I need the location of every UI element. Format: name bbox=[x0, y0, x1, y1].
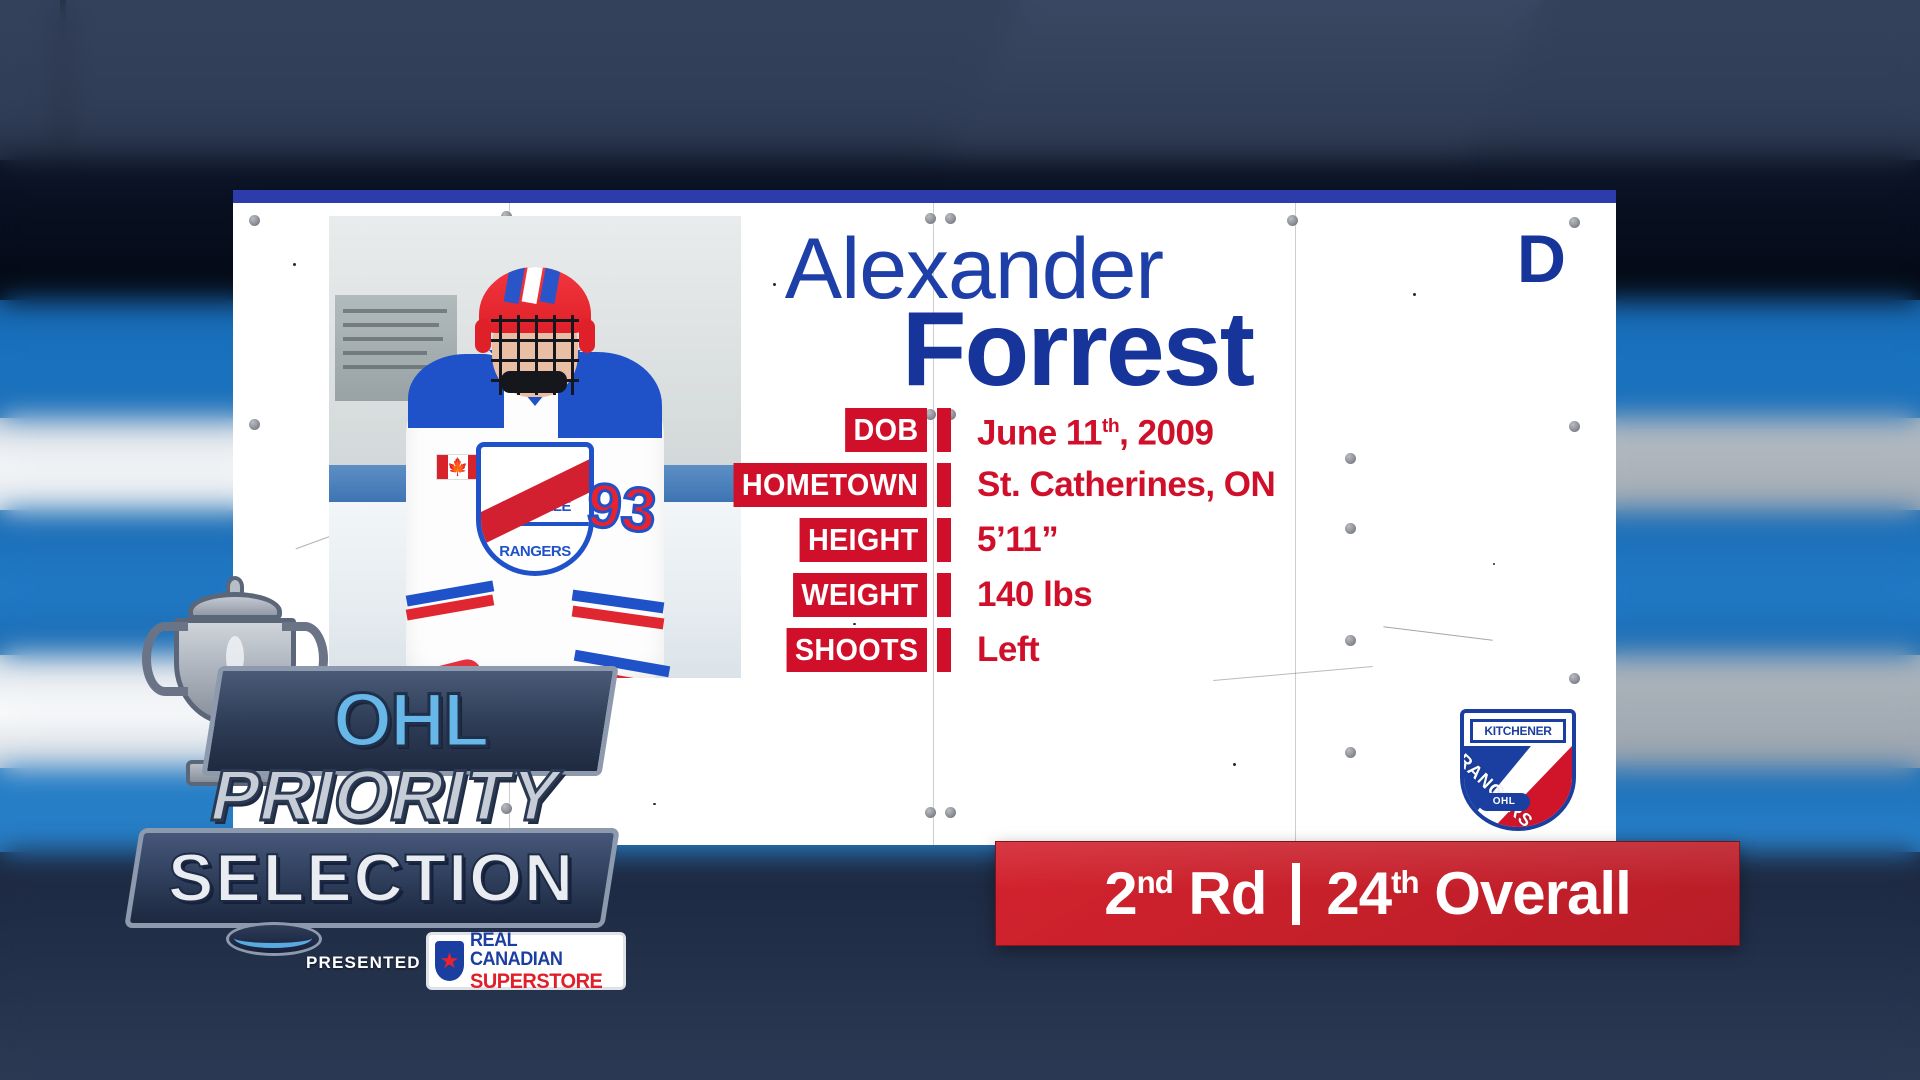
draft-position-banner: 2nd Rd 24th Overall bbox=[995, 841, 1740, 946]
player-stats-list: DOB June 11th, 2009 HOMETOWN St. Catheri… bbox=[703, 408, 1603, 683]
stat-label-shoots: SHOOTS bbox=[787, 628, 927, 672]
stat-value-dob-tail: , 2009 bbox=[1119, 413, 1213, 452]
stat-row-shoots: SHOOTS Left bbox=[703, 628, 1603, 672]
stat-divider-bar bbox=[937, 628, 951, 672]
puck-motion-arc bbox=[234, 928, 312, 948]
grunge-speck bbox=[1413, 293, 1416, 296]
draft-overall-number: 24 bbox=[1326, 860, 1391, 927]
rivet bbox=[249, 419, 260, 430]
team-shield: KITCHENER RANGERS OHL bbox=[1460, 709, 1576, 831]
draft-overall-label: Overall bbox=[1434, 860, 1630, 927]
helmet-ear-left bbox=[475, 319, 491, 353]
team-name-top: KITCHENER bbox=[1470, 719, 1566, 743]
team-crest-oakville-rangers: OAKVILLE RANGERS bbox=[476, 442, 594, 576]
grunge-speck bbox=[1233, 763, 1236, 766]
grunge-speck bbox=[773, 283, 776, 286]
stat-row-weight: WEIGHT 140 lbs bbox=[703, 573, 1603, 617]
draft-overall-suffix: th bbox=[1391, 865, 1418, 900]
player-position: D bbox=[1517, 225, 1566, 293]
stat-value-weight: 140 lbs bbox=[977, 573, 1092, 617]
stat-value-hometown: St. Catherines, ON bbox=[977, 463, 1275, 507]
jersey-number: 93 bbox=[584, 475, 659, 544]
stat-value-height: 5’11” bbox=[977, 518, 1058, 562]
card-top-bar bbox=[233, 190, 1616, 203]
selection-wordmark-plate: SELECTION bbox=[124, 828, 620, 928]
stat-row-height: HEIGHT 5’11” bbox=[703, 518, 1603, 562]
draft-overall: 24th Overall bbox=[1300, 864, 1656, 924]
helmet-ear-right bbox=[579, 319, 595, 353]
stat-value-dob-suffix: th bbox=[1102, 416, 1119, 437]
player-head bbox=[479, 267, 591, 407]
draft-round-label: Rd bbox=[1188, 860, 1266, 927]
stat-label-weight: WEIGHT bbox=[793, 573, 927, 617]
stat-row-dob: DOB June 11th, 2009 bbox=[703, 408, 1603, 452]
rivet bbox=[249, 215, 260, 226]
stat-value-dob-text: June 11 bbox=[977, 413, 1102, 452]
helmet-chin-cup bbox=[501, 371, 567, 393]
rivet bbox=[925, 807, 936, 818]
stat-value-shoots: Left bbox=[977, 628, 1039, 672]
stat-label-dob: DOB bbox=[845, 408, 927, 452]
stat-label-hometown: HOMETOWN bbox=[734, 463, 927, 507]
rivet bbox=[1569, 217, 1580, 228]
stat-label-height: HEIGHT bbox=[800, 518, 927, 562]
crest-bottom-text: RANGERS bbox=[481, 544, 589, 559]
ohl-league-badge: OHL bbox=[1478, 793, 1530, 811]
selection-wordmark: SELECTION bbox=[168, 844, 575, 912]
sponsor-line-2: SUPERSTORE bbox=[470, 971, 610, 992]
rivet bbox=[945, 807, 956, 818]
maple-leaf-icon: ★ bbox=[435, 941, 464, 981]
banner-separator bbox=[1292, 863, 1300, 925]
sponsor-logo-real-canadian-superstore: ★ REAL CANADIAN SUPERSTORE bbox=[426, 932, 626, 990]
grunge-speck bbox=[653, 803, 656, 805]
stat-row-hometown: HOMETOWN St. Catherines, ON bbox=[703, 463, 1603, 507]
stat-divider-bar bbox=[937, 408, 951, 452]
ohl-priority-selection-logo: OHL PRIORITY SELECTION PRESENTED BY ★ RE… bbox=[118, 570, 618, 1000]
stat-value-dob: June 11th, 2009 bbox=[977, 405, 1213, 456]
draft-round-suffix: nd bbox=[1137, 865, 1173, 900]
stat-divider-bar bbox=[937, 463, 951, 507]
drafting-team-logo-kitchener-rangers: KITCHENER RANGERS OHL bbox=[1460, 709, 1576, 831]
canada-flag-patch: 🍁 bbox=[436, 454, 480, 480]
rivet bbox=[1287, 215, 1298, 226]
stat-divider-bar bbox=[937, 573, 951, 617]
stat-divider-bar bbox=[937, 518, 951, 562]
draft-round-number: 2 bbox=[1104, 860, 1136, 927]
grunge-speck bbox=[293, 263, 296, 266]
sponsor-line-1: REAL CANADIAN bbox=[470, 931, 610, 969]
player-last-name: Forrest bbox=[902, 299, 1253, 400]
draft-round: 2nd Rd bbox=[1078, 864, 1292, 924]
rivet bbox=[1345, 747, 1356, 758]
